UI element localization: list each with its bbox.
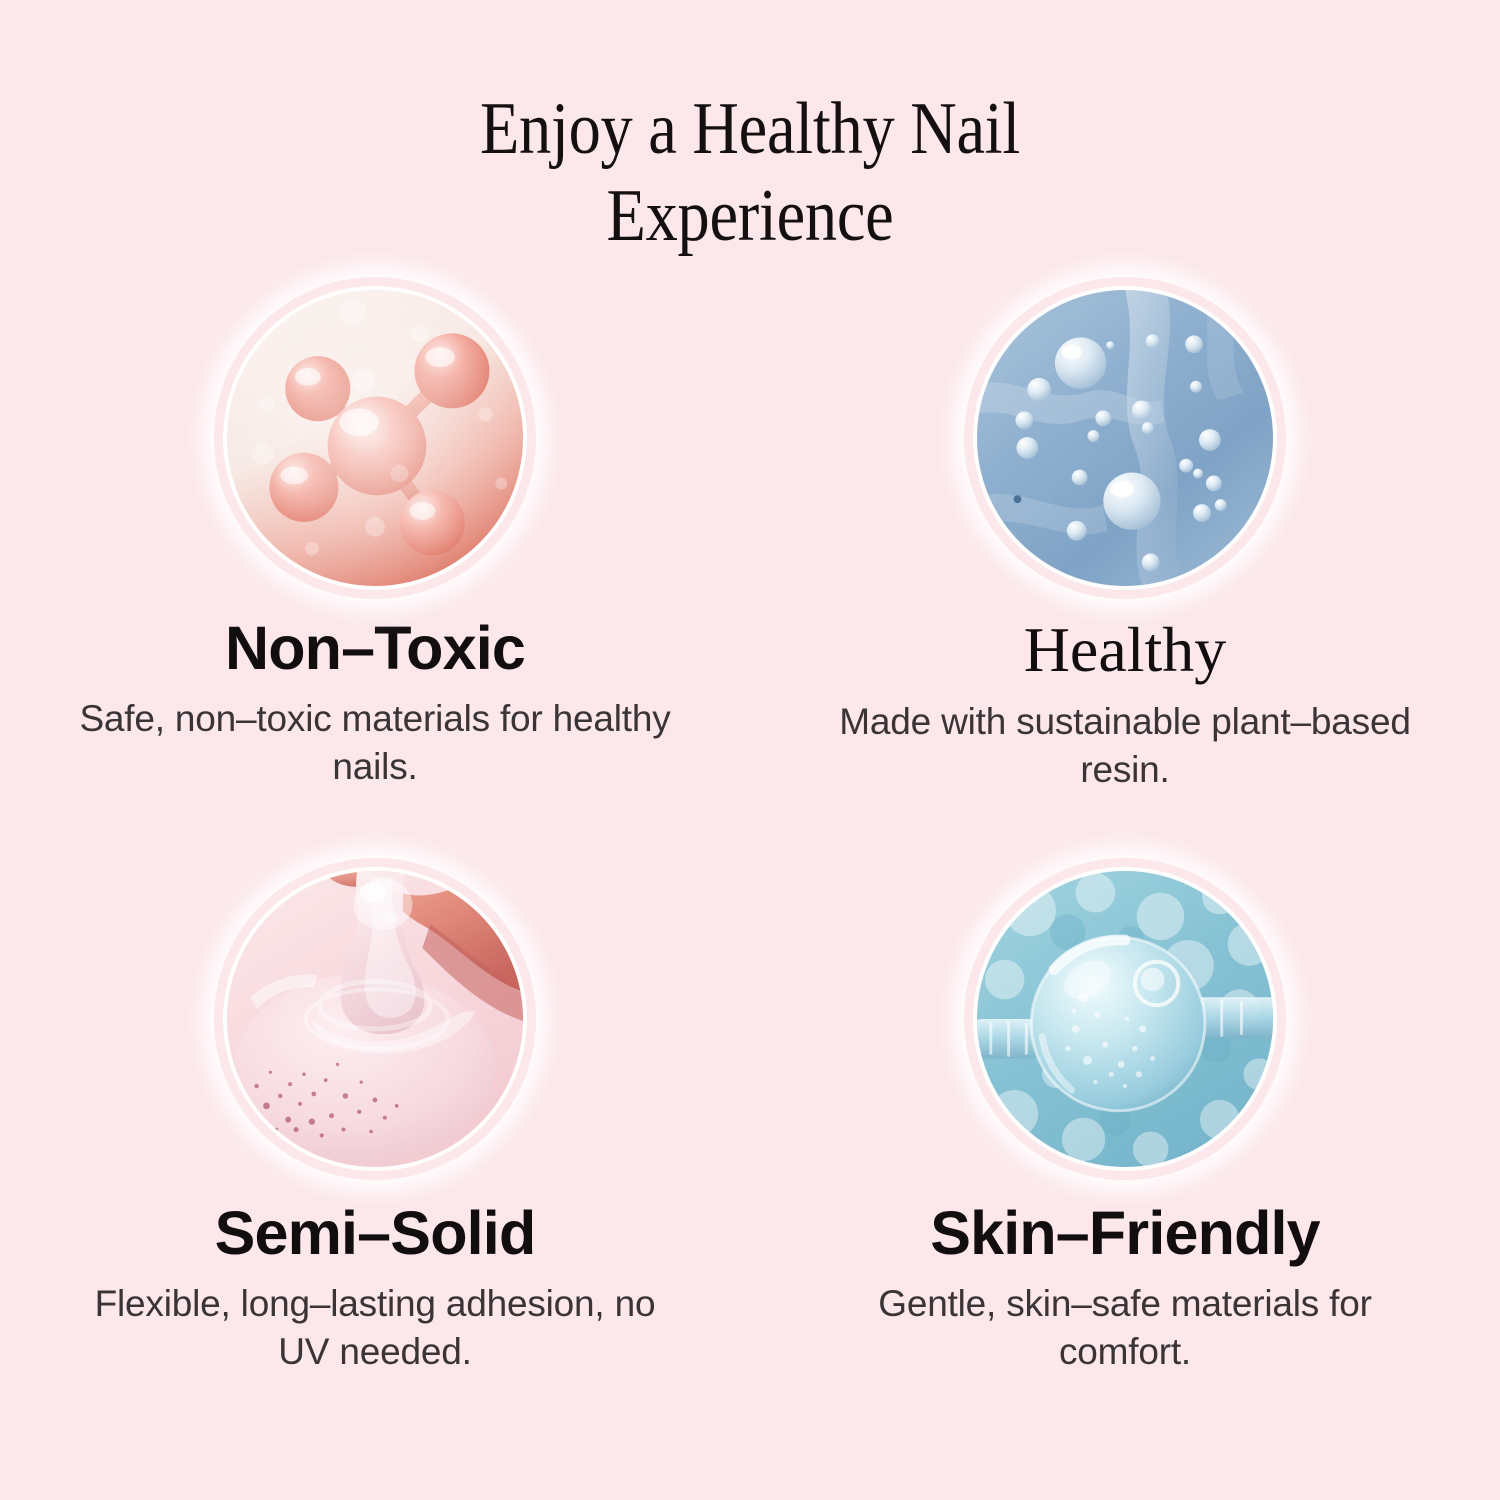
blue-water-droplets-photo (973, 286, 1277, 590)
feature-card-skin-friendly: Skin–Friendly Gentle, skin–safe material… (750, 845, 1500, 1420)
feature-description-healthy: Made with sustainable plant–based resin. (815, 698, 1435, 794)
feature-description-non-toxic: Safe, non–toxic materials for healthy na… (65, 695, 685, 791)
feature-title-healthy: Healthy (1024, 616, 1227, 684)
feature-image-wrap-healthy (973, 286, 1277, 590)
cyan-bubble-molecule-photo (973, 867, 1277, 1171)
feature-title-semi-solid: Semi–Solid (215, 1201, 536, 1266)
infographic-page: Enjoy a Healthy Nail Experience (0, 0, 1500, 1500)
feature-image-wrap-semi-solid (223, 867, 527, 1171)
page-title-line-2: Experience (607, 175, 894, 257)
pink-gel-drip-photo (223, 867, 527, 1171)
feature-card-non-toxic: Non–Toxic Safe, non–toxic materials for … (0, 270, 750, 845)
feature-grid: Non–Toxic Safe, non–toxic materials for … (0, 270, 1500, 1420)
page-title-line-1: Enjoy a Healthy Nail (480, 88, 1020, 170)
pink-molecule-photo (223, 286, 527, 590)
feature-title-non-toxic: Non–Toxic (225, 616, 525, 681)
feature-description-semi-solid: Flexible, long–lasting adhesion, no UV n… (65, 1280, 685, 1376)
page-title: Enjoy a Healthy Nail Experience (98, 86, 1403, 259)
feature-card-healthy: Healthy Made with sustainable plant–base… (750, 270, 1500, 845)
feature-image-wrap-non-toxic (223, 286, 527, 590)
feature-title-skin-friendly: Skin–Friendly (930, 1201, 1320, 1266)
feature-image-wrap-skin-friendly (973, 867, 1277, 1171)
feature-description-skin-friendly: Gentle, skin–safe materials for comfort. (815, 1280, 1435, 1376)
feature-card-semi-solid: Semi–Solid Flexible, long–lasting adhesi… (0, 845, 750, 1420)
